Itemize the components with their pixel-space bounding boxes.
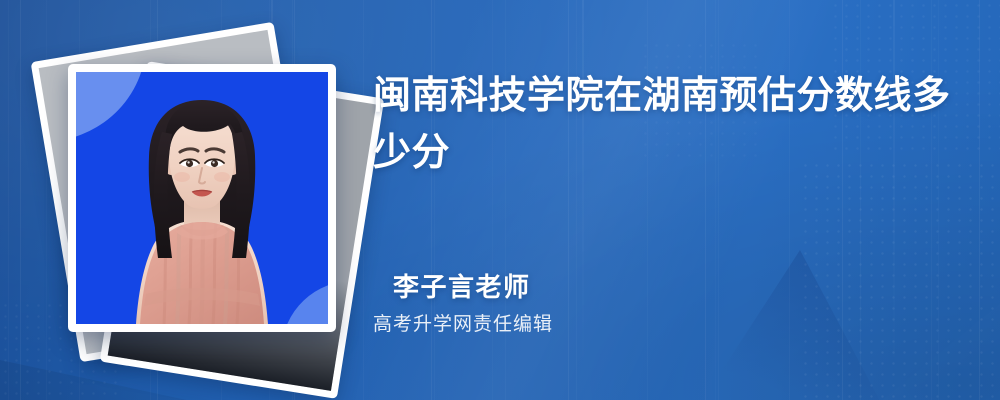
poster-canvas: 闽南科技学院在湖南预估分数线多少分 李子言老师 高考升学网责任编辑 [0,0,1000,400]
page-title: 闽南科技学院在湖南预估分数线多少分 [373,68,963,182]
author-name: 李子言老师 [373,272,793,302]
portrait-illustration [76,72,328,324]
photo-card-stack [46,26,356,376]
author-role: 高考升学网责任编辑 [373,313,793,337]
id-photo [76,72,328,324]
text-column: 闽南科技学院在湖南预估分数线多少分 李子言老师 高考升学网责任编辑 [373,0,973,400]
photo-card-front [68,64,336,332]
author-block: 李子言老师 高考升学网责任编辑 [373,272,793,337]
